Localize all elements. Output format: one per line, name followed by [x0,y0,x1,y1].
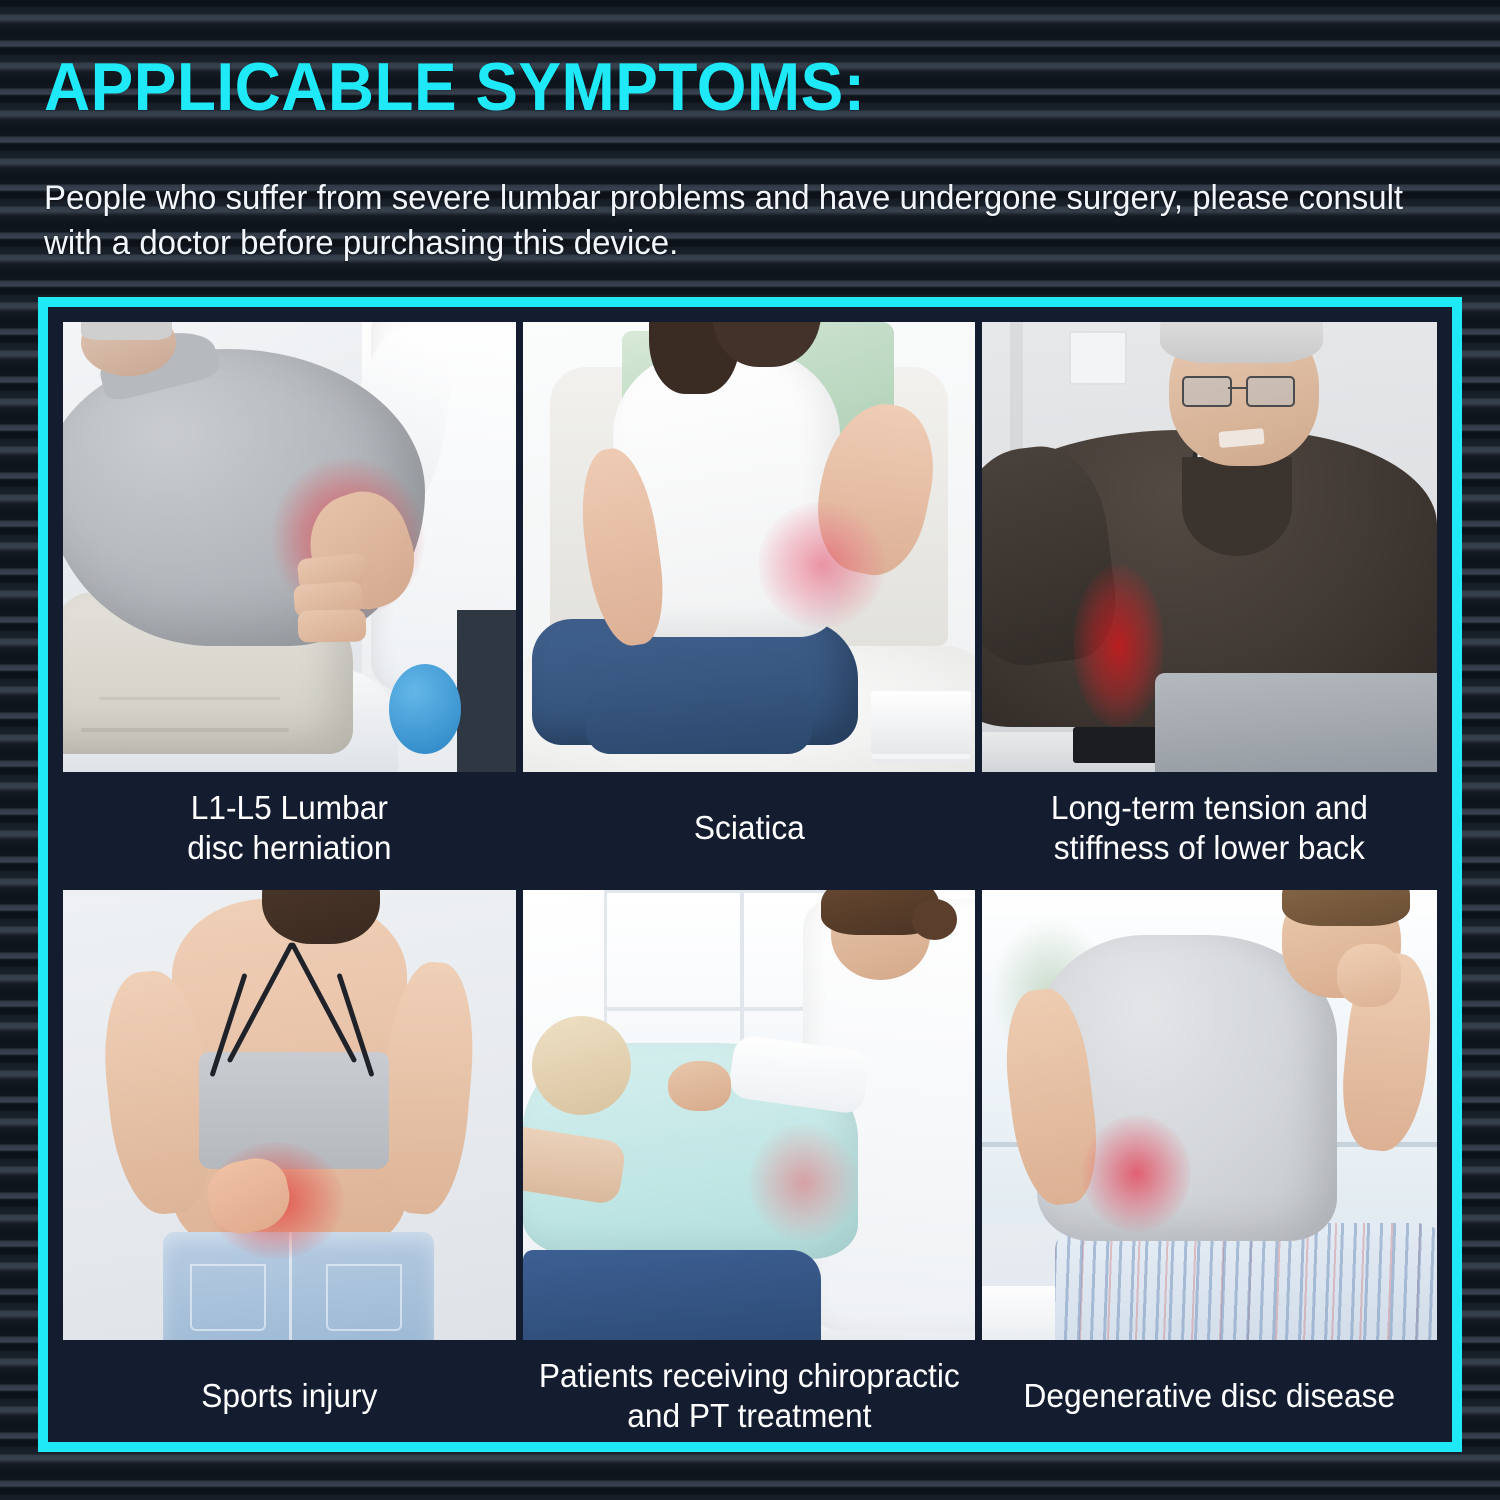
symptom-image-long-term-tension [982,322,1437,772]
symptoms-row-1-captions: L1-L5 Lumbar disc herniation Sciatica Lo… [63,772,1437,884]
symptom-image-lumbar-disc-herniation [63,322,516,772]
symptoms-row-1: L1-L5 Lumbar disc herniation Sciatica Lo… [63,322,1437,884]
caption-lumbar-disc-herniation: L1-L5 Lumbar disc herniation [72,772,507,884]
infographic-page: APPLICABLE SYMPTOMS: People who suffer f… [0,0,1500,1500]
symptoms-grid-panel: L1-L5 Lumbar disc herniation Sciatica Lo… [38,297,1462,1452]
symptoms-row-2: Sports injury Patients receiving chiropr… [63,890,1437,1452]
caption-sports-injury: Sports injury [72,1340,507,1452]
symptoms-grid: L1-L5 Lumbar disc herniation Sciatica Lo… [63,322,1437,1427]
caption-long-term-tension: Long-term tension and stiffness of lower… [991,772,1427,884]
symptoms-row-1-images [63,322,1437,772]
symptom-image-degenerative-disc-disease [982,890,1437,1340]
caption-chiropractic-pt: Patients receiving chiropractic and PT t… [532,1340,967,1452]
caption-degenerative-disc-disease: Degenerative disc disease [991,1340,1427,1452]
symptoms-row-2-images [63,890,1437,1340]
page-title: APPLICABLE SYMPTOMS: [44,53,865,121]
symptoms-row-2-captions: Sports injury Patients receiving chiropr… [63,1340,1437,1452]
symptom-image-sports-injury [63,890,516,1340]
page-subtitle: People who suffer from severe lumbar pro… [44,176,1421,266]
symptom-image-sciatica [523,322,976,772]
symptom-image-chiropractic-pt [523,890,976,1340]
caption-sciatica: Sciatica [532,772,967,884]
